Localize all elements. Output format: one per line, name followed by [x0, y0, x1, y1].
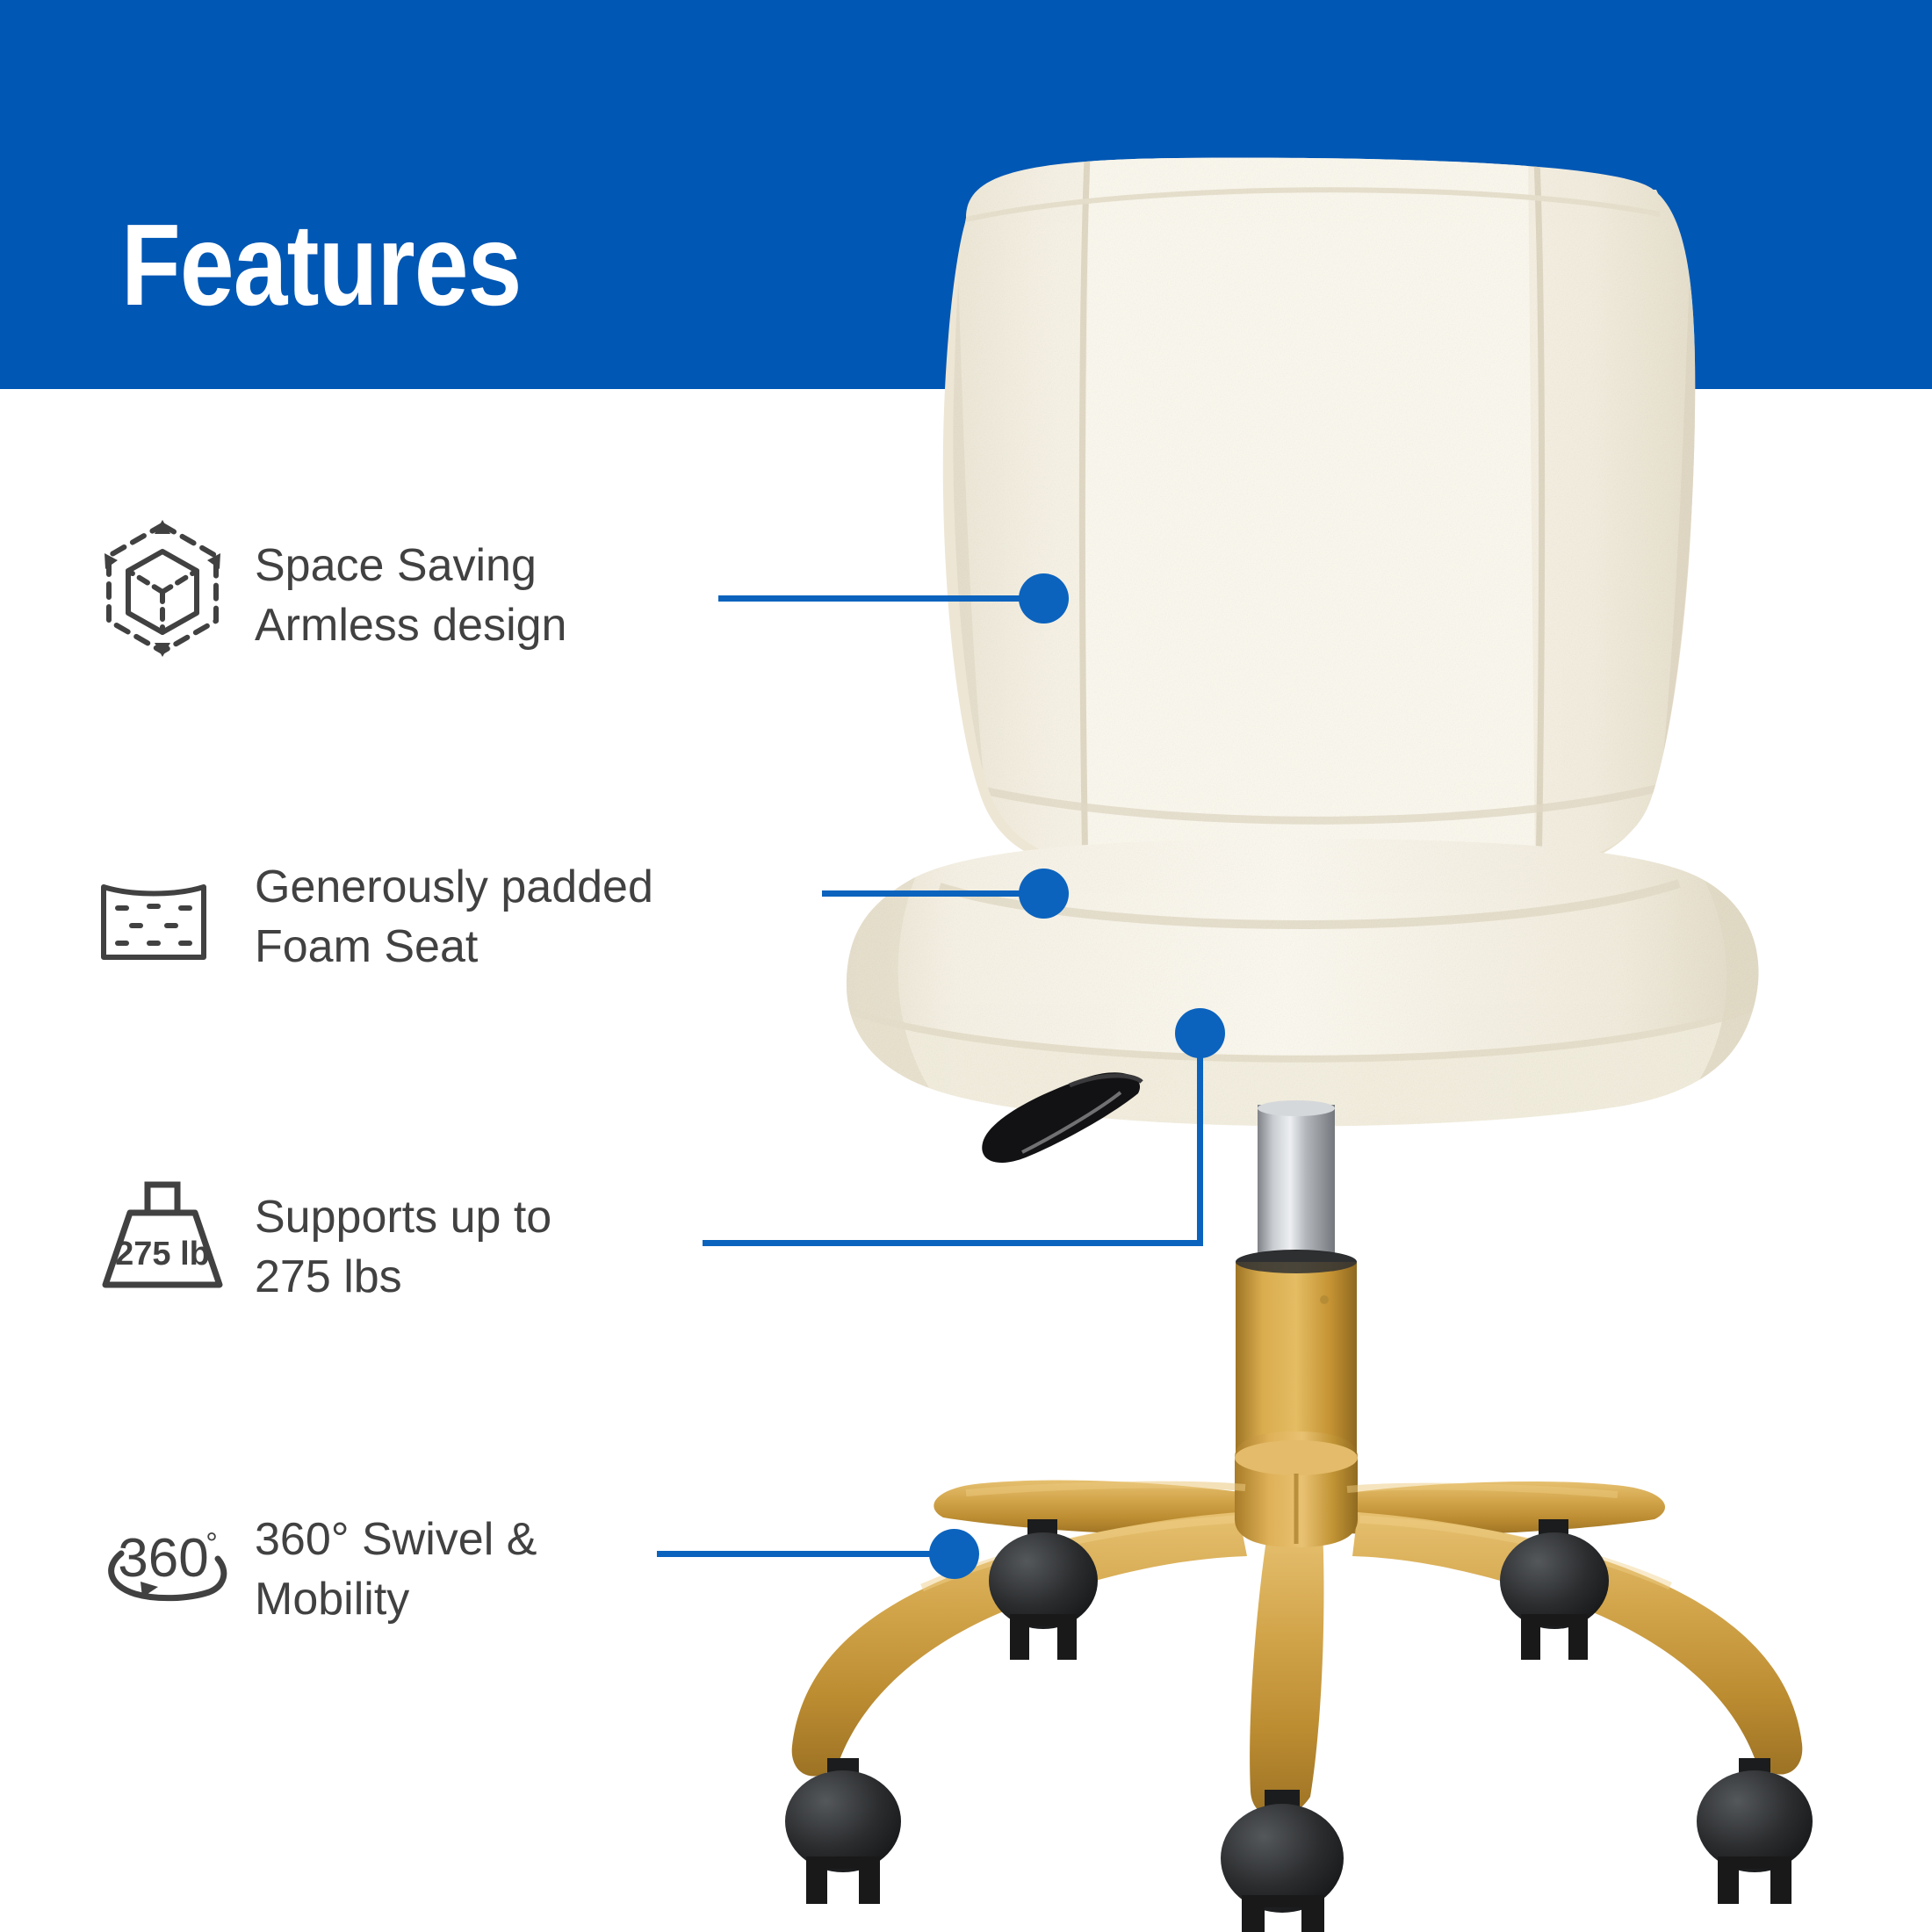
weight-capacity-icon-wrapper: 275 lb [97, 1168, 241, 1308]
chrome-gas-post [1258, 1100, 1335, 1259]
caster-front-center [1221, 1790, 1344, 1932]
feature-infographic: Features [0, 0, 1932, 1932]
callout-dot-2 [1019, 869, 1069, 919]
feature-item-space-saving: Space Saving Armless design [97, 518, 566, 659]
feature-item-swivel: 360 ° 360° Swivel & Mobility [97, 1497, 537, 1629]
chair-seat [834, 825, 1791, 1142]
height-adjust-lever [982, 1072, 1142, 1163]
feature-label-weight-capacity: Supports up to 275 lbs [241, 1168, 551, 1307]
foam-cushion-icon-wrapper [97, 850, 241, 975]
feature-label-foam-seat: Generously padded Foam Seat [241, 850, 653, 977]
feature-label-swivel: 360° Swivel & Mobility [241, 1497, 537, 1629]
five-star-base [792, 1431, 1803, 1817]
caster-back-left [989, 1519, 1098, 1660]
feature-item-foam-seat: Generously padded Foam Seat [97, 850, 653, 977]
weight-capacity-icon-text: 275 lb [115, 1236, 210, 1272]
space-saving-cube-icon [97, 518, 228, 659]
swivel-360-number: 360 [118, 1528, 208, 1589]
swivel-360-degree-symbol: ° [205, 1527, 218, 1561]
foam-cushion-icon [97, 878, 211, 966]
feature-label-space-saving: Space Saving Armless design [241, 518, 566, 655]
gold-gas-cylinder [1236, 1250, 1357, 1473]
weight-capacity-icon: 275 lb [97, 1172, 228, 1304]
space-saving-cube-icon-wrapper [97, 518, 241, 659]
callout-line-3-vertical [1197, 1043, 1203, 1246]
callout-dot-1 [1019, 573, 1069, 624]
callout-dot-3 [1175, 1008, 1225, 1058]
caster-front-right [1697, 1758, 1813, 1904]
feature-list: Space Saving Armless design [0, 0, 878, 1932]
360-swivel-icon: 360 ° [97, 1517, 237, 1613]
feature-item-weight-capacity: 275 lb Supports up to 275 lbs [97, 1168, 551, 1308]
callout-dot-4 [929, 1529, 979, 1579]
caster-back-right [1500, 1519, 1609, 1660]
swivel-360-icon-wrapper: 360 ° [97, 1497, 241, 1622]
casters [785, 1519, 1813, 1932]
